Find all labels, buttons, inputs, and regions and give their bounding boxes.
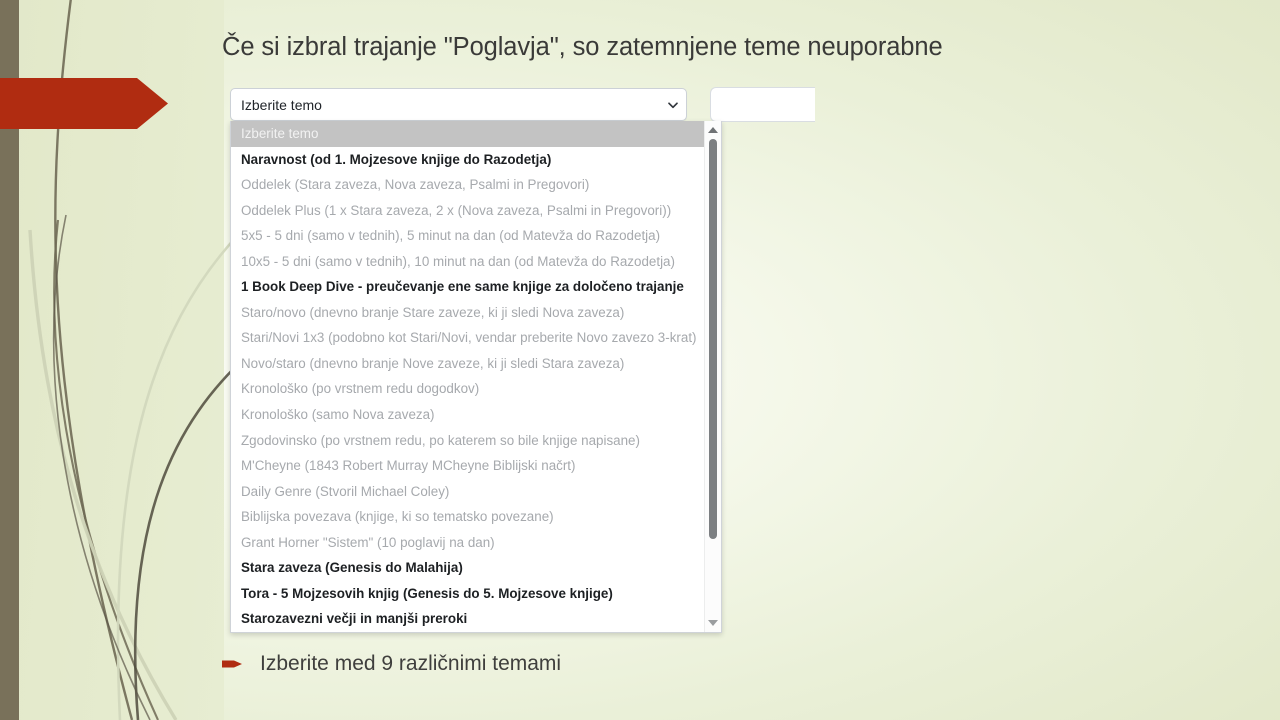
- chevron-down-icon[interactable]: [660, 99, 686, 111]
- theme-select[interactable]: Izberite temo: [230, 88, 687, 121]
- dropdown-option[interactable]: Naravnost (od 1. Mojzesove knjige do Raz…: [231, 147, 705, 173]
- scroll-up-arrow-icon[interactable]: [705, 123, 721, 137]
- dropdown-option[interactable]: Tora - 5 Mojzesovih knjig (Genesis do 5.…: [231, 581, 705, 607]
- dropdown-option[interactable]: 5x5 - 5 dni (samo v tednih), 5 minut na …: [231, 223, 705, 249]
- dropdown-option[interactable]: 1 Book Deep Dive - preučevanje ene same …: [231, 274, 705, 300]
- dropdown-option[interactable]: Daily Genre (Stvoril Michael Coley): [231, 479, 705, 505]
- red-pennant-banner: [0, 78, 168, 129]
- dropdown-option[interactable]: Novo/staro (dnevno branje Nove zaveze, k…: [231, 351, 705, 377]
- slide: Če si izbral trajanje "Poglavja", so zat…: [0, 0, 1280, 720]
- caption: Izberite med 9 različnimi temami: [222, 652, 561, 676]
- dropdown-option[interactable]: Stara zaveza (Genesis do Malahija): [231, 555, 705, 581]
- scroll-down-arrow-icon[interactable]: [705, 616, 721, 630]
- page-title: Če si izbral trajanje "Poglavja", so zat…: [222, 33, 1222, 62]
- secondary-input-field[interactable]: [710, 87, 815, 122]
- theme-dropdown-list[interactable]: Izberite temoNaravnost (od 1. Mojzesove …: [230, 121, 722, 633]
- red-arrow-bullet-icon: [222, 659, 242, 670]
- caption-text: Izberite med 9 različnimi temami: [260, 652, 561, 676]
- dropdown-scrollbar[interactable]: [704, 121, 721, 632]
- dropdown-option[interactable]: Staro/novo (dnevno branje Stare zaveze, …: [231, 300, 705, 326]
- dropdown-option[interactable]: 10x5 - 5 dni (samo v tednih), 10 minut n…: [231, 249, 705, 275]
- dropdown-option[interactable]: Oddelek Plus (1 x Stara zaveza, 2 x (Nov…: [231, 198, 705, 224]
- dropdown-option[interactable]: Grant Horner "Sistem" (10 poglavij na da…: [231, 530, 705, 556]
- dropdown-option[interactable]: Stari/Novi 1x3 (podobno kot Stari/Novi, …: [231, 325, 705, 351]
- dropdown-option[interactable]: Zgodovinsko (po vrstnem redu, po katerem…: [231, 428, 705, 454]
- dropdown-option[interactable]: Kronološko (po vrstnem redu dogodkov): [231, 376, 705, 402]
- theme-select-value: Izberite temo: [231, 97, 660, 113]
- scrollbar-thumb[interactable]: [709, 139, 717, 539]
- dropdown-option[interactable]: Starozavezni večji in manjši preroki: [231, 606, 705, 632]
- dropdown-option[interactable]: M'Cheyne (1843 Robert Murray MCheyne Bib…: [231, 453, 705, 479]
- dropdown-option[interactable]: Kronološko (samo Nova zaveza): [231, 402, 705, 428]
- dropdown-option[interactable]: Oddelek (Stara zaveza, Nova zaveza, Psal…: [231, 172, 705, 198]
- dropdown-option[interactable]: Biblijska povezava (knjige, ki so temats…: [231, 504, 705, 530]
- dropdown-options[interactable]: Izberite temoNaravnost (od 1. Mojzesove …: [231, 121, 705, 632]
- dropdown-option[interactable]: Izberite temo: [231, 121, 705, 147]
